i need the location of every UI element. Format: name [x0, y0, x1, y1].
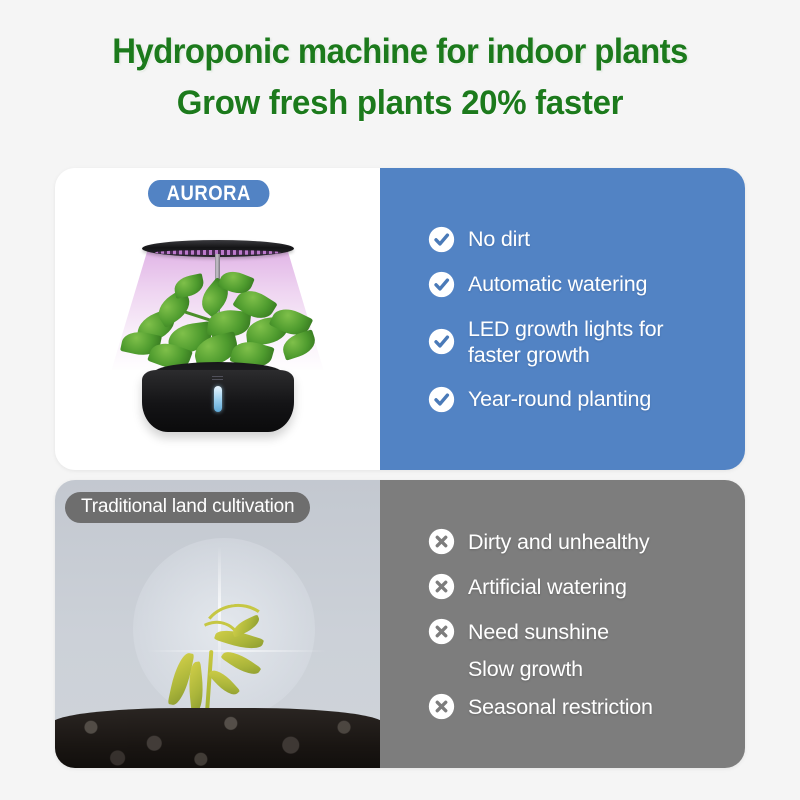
check-circle-icon: [428, 328, 455, 355]
traditional-drawbacks-panel: Dirty and unhealthy Artificial watering …: [380, 480, 745, 768]
headline-secondary: Grow fresh plants 20% faster: [12, 80, 788, 126]
drawback-row: Dirty and unhealthy: [428, 528, 745, 555]
hydroponic-comparison-card: AURORA No dirt Automatic watering LED gr…: [55, 168, 745, 470]
drawback-row-continuation: Slow growth: [428, 656, 745, 682]
water-gauge-ticks: [212, 376, 223, 382]
drawback-label: Artificial watering: [468, 574, 627, 600]
hydroponic-benefits-panel: No dirt Automatic watering LED growth li…: [380, 168, 745, 470]
benefit-row: No dirt: [428, 226, 745, 253]
headline-primary: Hydroponic machine for indoor plants: [24, 30, 776, 74]
drawback-row: Artificial watering: [428, 573, 745, 600]
benefit-label: Automatic watering: [468, 271, 647, 297]
drawback-label: Slow growth: [468, 656, 583, 682]
benefit-row: LED growth lights for faster growth: [428, 316, 745, 368]
traditional-field-photo: Traditional land cultivation: [55, 480, 380, 768]
drawback-row: Need sunshine: [428, 618, 745, 645]
aurora-brand-badge: AURORA: [148, 180, 269, 207]
benefit-label: Year-round planting: [468, 386, 651, 412]
benefit-row: Automatic watering: [428, 271, 745, 298]
drawback-label: Seasonal restriction: [468, 694, 653, 720]
x-circle-icon: [428, 618, 455, 645]
traditional-label-badge: Traditional land cultivation: [65, 492, 310, 523]
check-circle-icon: [428, 226, 455, 253]
x-circle-icon: [428, 573, 455, 600]
benefit-row: Year-round planting: [428, 386, 745, 413]
field-illustration: [55, 480, 380, 768]
soil-bed: [55, 708, 380, 768]
hydroponic-device-photo: AURORA: [55, 168, 380, 470]
drawback-label: Need sunshine: [468, 619, 609, 645]
water-level-indicator: [214, 386, 222, 412]
check-circle-icon: [428, 386, 455, 413]
traditional-comparison-card: Traditional land cultivation Dirty and u…: [55, 480, 745, 768]
drawback-row: Seasonal restriction: [428, 693, 745, 720]
drawback-label: Dirty and unhealthy: [468, 529, 649, 555]
benefit-label: No dirt: [468, 226, 530, 252]
check-circle-icon: [428, 271, 455, 298]
device-illustration: [55, 168, 380, 470]
benefit-label: LED growth lights for faster growth: [468, 316, 663, 368]
headline-block: Hydroponic machine for indoor plants Gro…: [0, 30, 800, 126]
x-circle-icon: [428, 528, 455, 555]
x-circle-icon: [428, 693, 455, 720]
